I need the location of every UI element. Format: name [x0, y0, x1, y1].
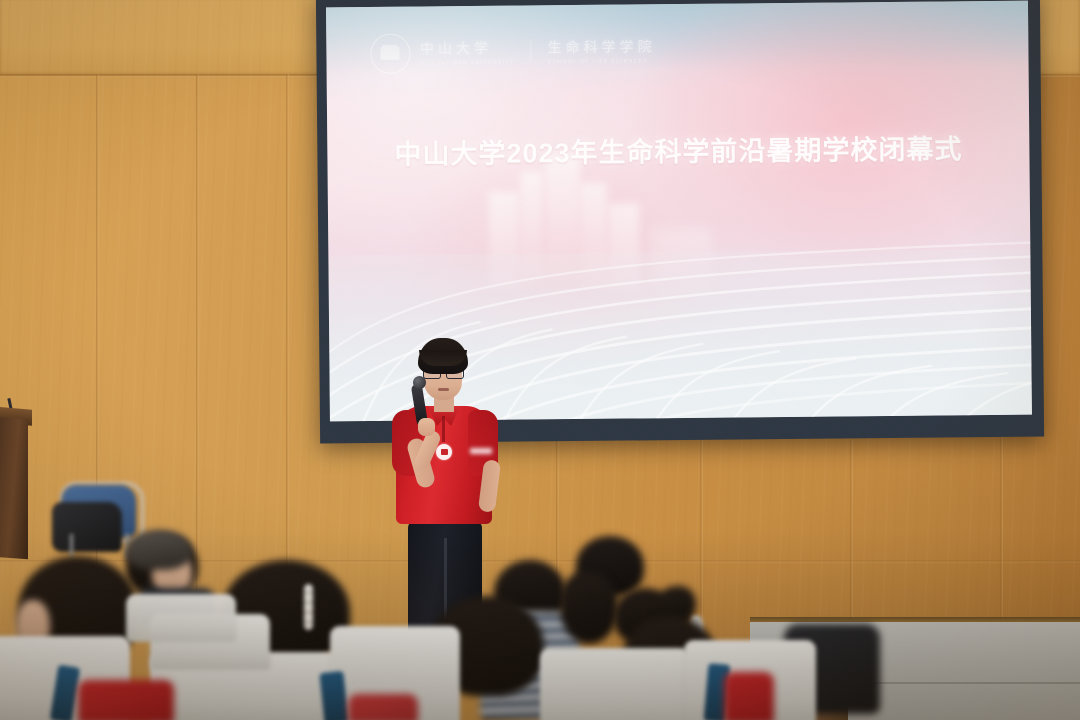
scene-vignette: [0, 0, 1080, 720]
photo-canvas: 中山大学 SUN YAT-SEN UNIVERSITY 生命科学学院 SCHOO…: [0, 0, 1080, 720]
